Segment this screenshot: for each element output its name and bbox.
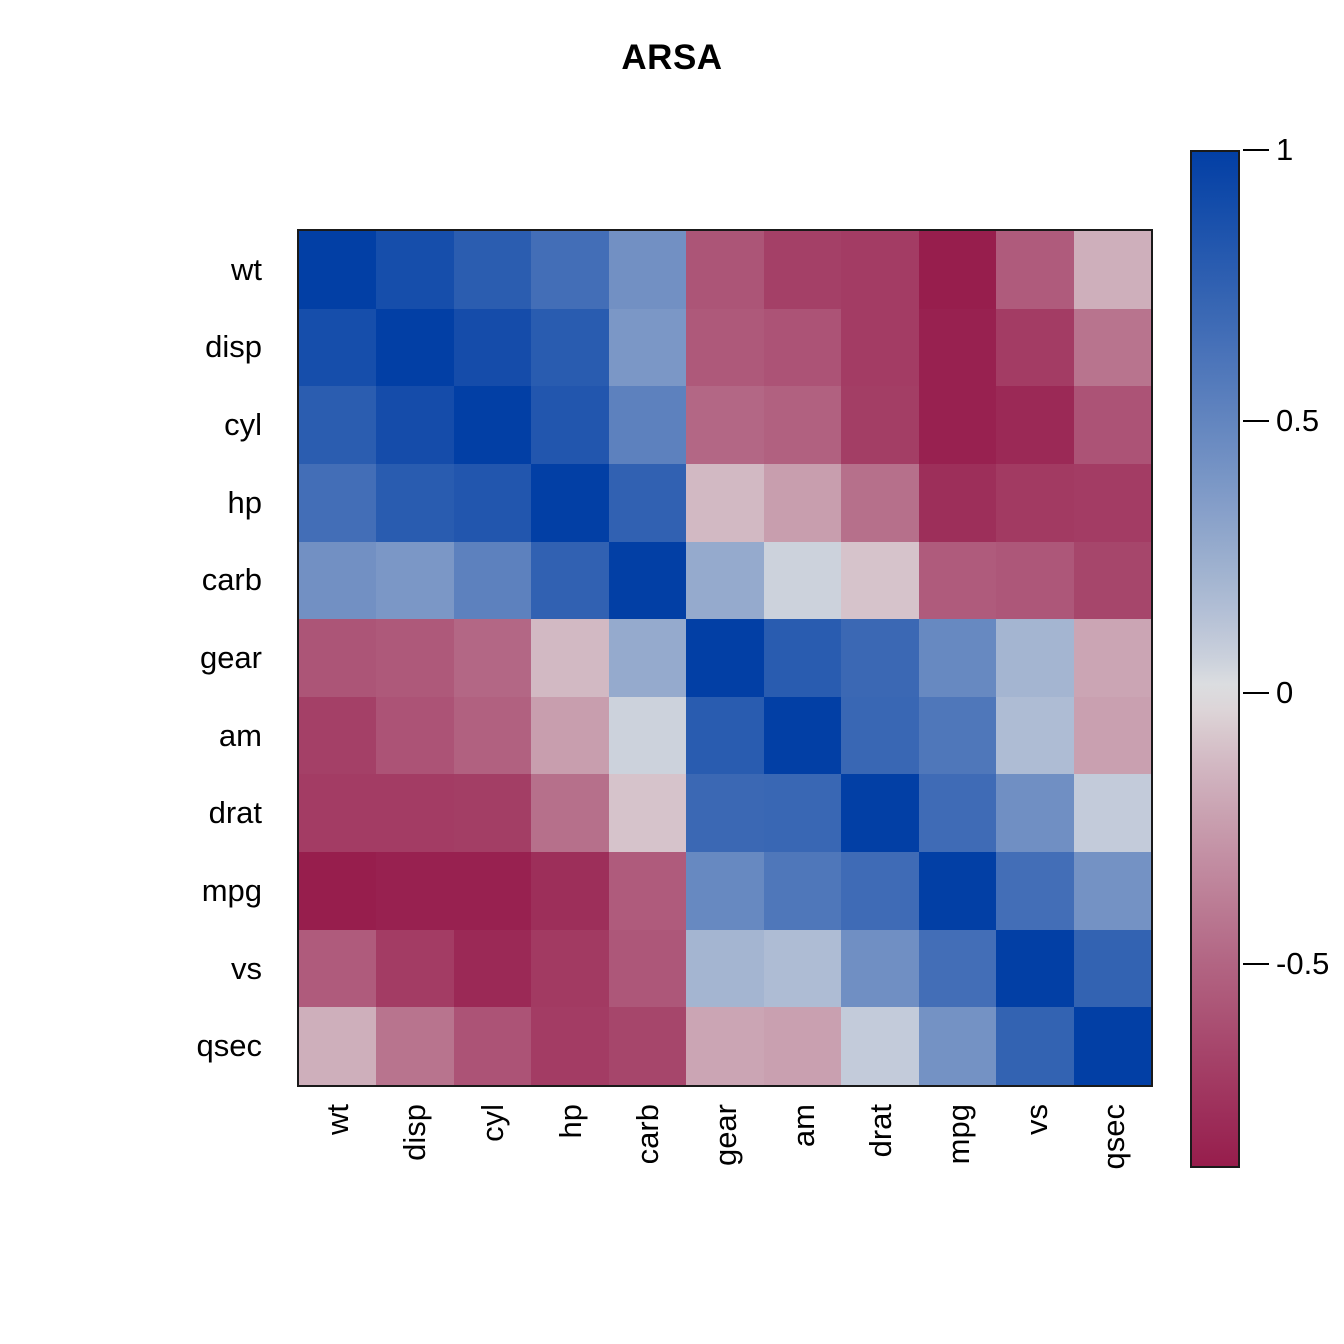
column-label-mpg: mpg [941, 1104, 977, 1164]
heatmap-cell [299, 619, 376, 697]
heatmap-cell [841, 542, 918, 620]
heatmap-cell [376, 386, 453, 464]
heatmap-cell [996, 852, 1073, 930]
heatmap-cell [686, 852, 763, 930]
heatmap-cell [531, 697, 608, 775]
heatmap-cell [996, 930, 1073, 1008]
legend-tick-mark [1243, 149, 1269, 151]
heatmap-matrix [297, 229, 1153, 1087]
legend-tick-mark [1243, 692, 1269, 694]
heatmap-cell [609, 619, 686, 697]
heatmap-cell [764, 231, 841, 309]
heatmap-cell [841, 386, 918, 464]
column-label-slot: am [765, 1092, 843, 1222]
heatmap-cell [764, 697, 841, 775]
heatmap-cell [919, 774, 996, 852]
heatmap-cell [996, 464, 1073, 542]
column-label-carb: carb [630, 1104, 666, 1164]
heatmap-cell [1074, 619, 1151, 697]
heatmap-cell [376, 852, 453, 930]
heatmap-cell [686, 619, 763, 697]
heatmap-cell [609, 1007, 686, 1085]
heatmap-cell [376, 1007, 453, 1085]
heatmap-cell [376, 774, 453, 852]
heatmap-cell [996, 309, 1073, 387]
heatmap-cell [919, 386, 996, 464]
legend-tick-label: -0.5 [1276, 946, 1329, 982]
heatmap-cell [1074, 464, 1151, 542]
heatmap-cell [1074, 697, 1151, 775]
heatmap-cell [299, 386, 376, 464]
row-label-drat: drat [100, 774, 280, 852]
heatmap-cell [609, 930, 686, 1008]
heatmap-cell [299, 852, 376, 930]
heatmap-cell [454, 386, 531, 464]
heatmap-cell [1074, 930, 1151, 1008]
row-label-qsec: qsec [100, 1007, 280, 1085]
heatmap-cell [919, 852, 996, 930]
heatmap-cell [1074, 852, 1151, 930]
heatmap-cell [454, 309, 531, 387]
heatmap-cell [1074, 386, 1151, 464]
row-label-hp: hp [100, 464, 280, 542]
column-label-slot: wt [299, 1092, 377, 1222]
heatmap-cell [531, 386, 608, 464]
row-label-mpg: mpg [100, 852, 280, 930]
column-label-slot: carb [610, 1092, 688, 1222]
heatmap-cell [919, 697, 996, 775]
column-label-vs: vs [1019, 1104, 1055, 1135]
heatmap-cell [454, 231, 531, 309]
heatmap-cell [531, 309, 608, 387]
heatmap-cell [841, 464, 918, 542]
heatmap-cell [299, 309, 376, 387]
heatmap-cell [686, 309, 763, 387]
heatmap-cell [376, 697, 453, 775]
heatmap-cell [1074, 231, 1151, 309]
column-label-slot: cyl [454, 1092, 532, 1222]
heatmap-cell [764, 542, 841, 620]
column-label-hp: hp [553, 1104, 589, 1138]
column-label-slot: hp [532, 1092, 610, 1222]
column-label-cyl: cyl [475, 1104, 511, 1142]
column-label-slot: drat [842, 1092, 920, 1222]
heatmap-cell [686, 1007, 763, 1085]
legend-tick-label: 1 [1276, 132, 1293, 168]
heatmap-cell [299, 697, 376, 775]
heatmap-cell [531, 464, 608, 542]
heatmap-cell [919, 1007, 996, 1085]
row-label-gear: gear [100, 619, 280, 697]
heatmap-cell [686, 697, 763, 775]
column-label-slot: disp [377, 1092, 455, 1222]
legend-tick-mark [1243, 963, 1269, 965]
heatmap-cell [454, 930, 531, 1008]
column-label-qsec: qsec [1096, 1104, 1132, 1169]
heatmap-cell [841, 231, 918, 309]
heatmap-cell [919, 930, 996, 1008]
column-label-slot: mpg [920, 1092, 998, 1222]
heatmap-cell [996, 542, 1073, 620]
row-label-vs: vs [100, 930, 280, 1008]
heatmap-cell [454, 464, 531, 542]
row-label-disp: disp [100, 309, 280, 387]
heatmap-cell [764, 386, 841, 464]
heatmap-cell [531, 930, 608, 1008]
heatmap-cell [1074, 1007, 1151, 1085]
heatmap-cell [376, 930, 453, 1008]
heatmap-cell [299, 1007, 376, 1085]
heatmap-cell [841, 852, 918, 930]
heatmap-cell [531, 619, 608, 697]
heatmap-cell [764, 774, 841, 852]
heatmap-cell [996, 774, 1073, 852]
heatmap-cell [1074, 774, 1151, 852]
heatmap-cell [609, 852, 686, 930]
column-label-drat: drat [863, 1104, 899, 1157]
heatmap-cell [841, 1007, 918, 1085]
heatmap-cell [686, 542, 763, 620]
heatmap-cell [454, 619, 531, 697]
legend-tick-label: 0.5 [1276, 403, 1319, 439]
column-label-wt: wt [320, 1104, 356, 1135]
row-label-wt: wt [100, 231, 280, 309]
heatmap-cell [299, 231, 376, 309]
heatmap-cell [454, 774, 531, 852]
heatmap-cell [686, 386, 763, 464]
color-legend [1190, 150, 1240, 1168]
row-label-am: am [100, 697, 280, 775]
heatmap-cell [531, 1007, 608, 1085]
heatmap-cell [996, 697, 1073, 775]
row-label-cyl: cyl [100, 386, 280, 464]
heatmap-cell [376, 231, 453, 309]
heatmap-cell [919, 309, 996, 387]
column-label-slot: qsec [1075, 1092, 1153, 1222]
heatmap-cell [299, 930, 376, 1008]
heatmap-cell [841, 619, 918, 697]
heatmap-cell [454, 697, 531, 775]
row-axis-labels: wtdispcylhpcarbgearamdratmpgvsqsec [100, 231, 280, 1085]
heatmap-cell [764, 464, 841, 542]
heatmap-cell [531, 542, 608, 620]
heatmap-cell [841, 774, 918, 852]
heatmap-cell [764, 930, 841, 1008]
heatmap-cell [996, 231, 1073, 309]
heatmap-cell [919, 464, 996, 542]
heatmap-cell [609, 386, 686, 464]
heatmap-cell [609, 309, 686, 387]
heatmap-cell [1074, 542, 1151, 620]
column-axis-labels: wtdispcylhpcarbgearamdratmpgvsqsec [299, 1092, 1153, 1222]
column-label-am: am [786, 1104, 822, 1147]
heatmap-cell [609, 464, 686, 542]
page-title: ARSA [0, 38, 1344, 78]
column-label-disp: disp [397, 1104, 433, 1161]
legend-tick-label: 0 [1276, 675, 1293, 711]
heatmap-cell [531, 774, 608, 852]
heatmap-cell [686, 930, 763, 1008]
heatmap-cell [841, 697, 918, 775]
heatmap-cell [376, 619, 453, 697]
heatmap-cell [299, 542, 376, 620]
heatmap-cell [919, 231, 996, 309]
heatmap-cell [919, 542, 996, 620]
column-label-slot: gear [687, 1092, 765, 1222]
heatmap-cell [299, 774, 376, 852]
heatmap-cell [686, 774, 763, 852]
heatmap-cell [609, 542, 686, 620]
heatmap-cell [531, 852, 608, 930]
heatmap-cell [764, 1007, 841, 1085]
heatmap-cell [609, 774, 686, 852]
color-legend-gradient [1192, 152, 1238, 1166]
heatmap-cell [1074, 309, 1151, 387]
heatmap-cell [686, 231, 763, 309]
heatmap-cell [764, 619, 841, 697]
heatmap-cell [299, 464, 376, 542]
heatmap-cell [454, 1007, 531, 1085]
heatmap-cell [919, 619, 996, 697]
row-label-carb: carb [100, 542, 280, 620]
column-label-gear: gear [708, 1104, 744, 1166]
heatmap-cell [764, 309, 841, 387]
heatmap-cell [454, 852, 531, 930]
heatmap-cell [764, 852, 841, 930]
heatmap-cell [686, 464, 763, 542]
heatmap-cell [376, 464, 453, 542]
heatmap-cell [996, 386, 1073, 464]
heatmap-cell [609, 697, 686, 775]
heatmap-cell [996, 619, 1073, 697]
heatmap-cell [841, 930, 918, 1008]
heatmap-cell [996, 1007, 1073, 1085]
heatmap-cell [376, 542, 453, 620]
heatmap-cell [376, 309, 453, 387]
heatmap-cell [531, 231, 608, 309]
column-label-slot: vs [998, 1092, 1076, 1222]
heatmap-cell [841, 309, 918, 387]
legend-tick-mark [1243, 420, 1269, 422]
heatmap-cell [609, 231, 686, 309]
heatmap-cell-grid [299, 231, 1151, 1085]
heatmap-cell [454, 542, 531, 620]
